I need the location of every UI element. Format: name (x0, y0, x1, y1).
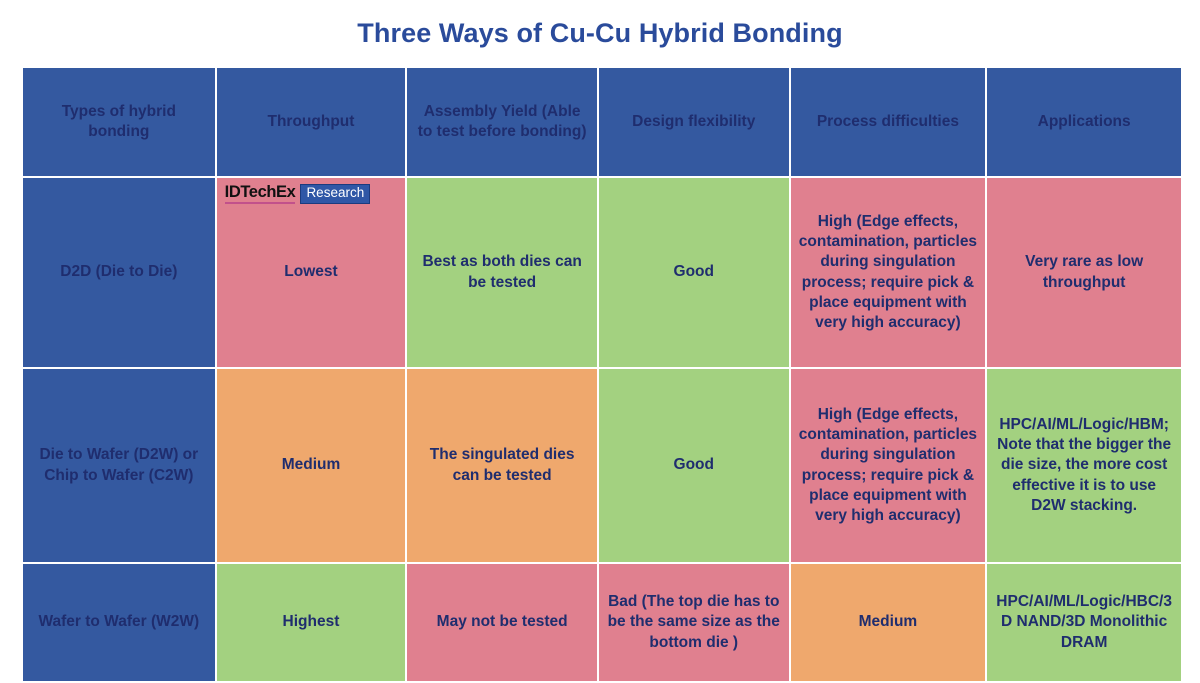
idtechex-wordmark: IDTechEx (225, 184, 296, 203)
cell-d2w-applications: HPC/AI/ML/Logic/HBM; Note that the bigge… (987, 369, 1181, 562)
table-row: Die to Wafer (D2W) or Chip to Wafer (C2W… (23, 369, 1181, 562)
column-header-process-diff: Process difficulties (791, 68, 986, 176)
table-row: Wafer to Wafer (W2W) Highest May not be … (23, 564, 1181, 681)
cell-d2d-assembly-yield: Best as both dies can be tested (407, 178, 597, 367)
cell-d2w-throughput: Medium (217, 369, 406, 562)
research-badge: Research (300, 184, 370, 204)
cell-d2w-design-flex: Good (599, 369, 789, 562)
comparison-table-container: Types of hybrid bonding Throughput Assem… (21, 66, 1183, 683)
column-header-assembly-yield: Assembly Yield (Able to test before bond… (407, 68, 597, 176)
column-header-throughput: Throughput (217, 68, 406, 176)
hybrid-bonding-comparison-table: Types of hybrid bonding Throughput Assem… (21, 66, 1183, 683)
page-root: Three Ways of Cu-Cu Hybrid Bonding Types… (0, 0, 1200, 675)
cell-d2w-process-diff: High (Edge effects, contamination, parti… (791, 369, 986, 562)
idtechex-logo: IDTechEx Research (225, 184, 371, 204)
cell-text: Lowest (284, 263, 337, 280)
row-label-d2d: D2D (Die to Die) (23, 178, 215, 367)
cell-d2d-throughput: IDTechEx Research Lowest (217, 178, 406, 367)
cell-w2w-design-flex: Bad (The top die has to be the same size… (599, 564, 789, 681)
cell-w2w-applications: HPC/AI/ML/Logic/HBC/3D NAND/3D Monolithi… (987, 564, 1181, 681)
row-label-d2w: Die to Wafer (D2W) or Chip to Wafer (C2W… (23, 369, 215, 562)
column-header-design-flex: Design flexibility (599, 68, 789, 176)
cell-w2w-assembly-yield: May not be tested (407, 564, 597, 681)
page-title: Three Ways of Cu-Cu Hybrid Bonding (0, 18, 1200, 49)
table-row: D2D (Die to Die) IDTechEx Research Lowes… (23, 178, 1181, 367)
cell-w2w-process-diff: Medium (791, 564, 986, 681)
row-label-w2w: Wafer to Wafer (W2W) (23, 564, 215, 681)
column-header-types: Types of hybrid bonding (23, 68, 215, 176)
table-header-row: Types of hybrid bonding Throughput Assem… (23, 68, 1181, 176)
cell-w2w-throughput: Highest (217, 564, 406, 681)
cell-d2w-assembly-yield: The singulated dies can be tested (407, 369, 597, 562)
cell-d2d-process-diff: High (Edge effects, contamination, parti… (791, 178, 986, 367)
cell-d2d-applications: Very rare as low throughput (987, 178, 1181, 367)
column-header-applications: Applications (987, 68, 1181, 176)
cell-d2d-design-flex: Good (599, 178, 789, 367)
